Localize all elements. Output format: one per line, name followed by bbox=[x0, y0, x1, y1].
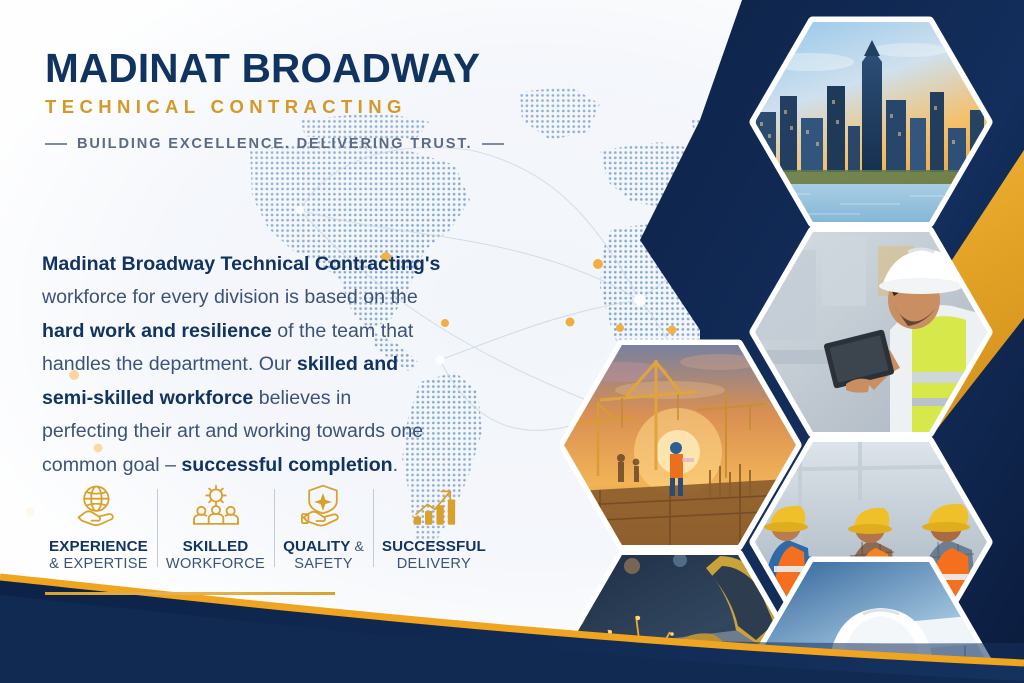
company-name-secondary: TECHNICAL CONTRACTING bbox=[45, 96, 525, 118]
paragraph-segment: Madinat Broadway Technical Contracting's bbox=[42, 253, 440, 275]
tagline-rule-right bbox=[482, 143, 504, 145]
feature-item-experience[interactable]: EXPERIENCE& EXPERTISE bbox=[40, 483, 157, 573]
feature-label-line2: WORKFORCE bbox=[166, 556, 265, 573]
tagline: BUILDING EXCELLENCE. DELIVERING TRUST. bbox=[45, 136, 504, 152]
feature-label-line1: EXPERIENCE bbox=[49, 538, 148, 556]
feature-label: SUCCESSFULDELIVERY bbox=[382, 538, 486, 573]
tagline-text: BUILDING EXCELLENCE. DELIVERING TRUST. bbox=[77, 136, 472, 152]
hex-blueprints-helmet bbox=[754, 557, 1003, 683]
hex-crane-construction-site bbox=[560, 338, 805, 553]
hex-city-skyline-sunset bbox=[750, 15, 995, 230]
hexagon-photo-collage bbox=[560, 0, 1024, 683]
feature-label: SKILLEDWORKFORCE bbox=[166, 538, 265, 573]
globe-in-hand-icon bbox=[49, 483, 148, 529]
feature-item-quality[interactable]: QUALITY &SAFETY bbox=[274, 483, 373, 573]
marketing-banner: MADINAT BROADWAY TECHNICAL CONTRACTING B… bbox=[0, 0, 1024, 683]
feature-label: EXPERIENCE& EXPERTISE bbox=[49, 538, 148, 573]
hex-engineer-with-tablet bbox=[750, 225, 995, 440]
body-paragraph: Madinat Broadway Technical Contracting's… bbox=[42, 248, 442, 483]
paragraph-segment: hard work and resilience bbox=[42, 320, 272, 342]
feature-label: QUALITY &SAFETY bbox=[283, 538, 364, 573]
company-name-primary: MADINAT BROADWAY bbox=[45, 48, 525, 89]
paragraph-segment: successful completion bbox=[181, 454, 392, 476]
hex-welding-sparks bbox=[560, 548, 805, 683]
feature-label-line1: QUALITY & bbox=[283, 538, 364, 556]
feature-item-successful[interactable]: SUCCESSFULDELIVERY bbox=[373, 483, 495, 573]
shield-in-hand-icon bbox=[283, 483, 364, 529]
feature-label-line2: SAFETY bbox=[283, 556, 364, 573]
feature-ampersand: & bbox=[350, 538, 363, 554]
paragraph-segment: workforce for every division is based on… bbox=[42, 286, 418, 308]
feature-label-line1: SKILLED bbox=[166, 538, 265, 556]
content-column: MADINAT BROADWAY TECHNICAL CONTRACTING B… bbox=[0, 0, 560, 683]
growth-chart-icon bbox=[382, 483, 486, 529]
logo-block: MADINAT BROADWAY TECHNICAL CONTRACTING bbox=[45, 48, 525, 118]
paragraph-segment: . bbox=[393, 454, 398, 476]
gold-divider-rule bbox=[45, 592, 335, 595]
feature-list: EXPERIENCE& EXPERTISESKILLEDWORKFORCEQUA… bbox=[40, 483, 540, 573]
feature-label-line1: SUCCESSFUL bbox=[382, 538, 486, 556]
feature-label-line2: DELIVERY bbox=[382, 556, 486, 573]
tagline-rule-left bbox=[45, 143, 67, 145]
feature-label-line2: & EXPERTISE bbox=[49, 556, 148, 573]
hex-workers-welding-rebar bbox=[750, 300, 995, 650]
feature-item-skilled[interactable]: SKILLEDWORKFORCE bbox=[157, 483, 274, 573]
gear-people-icon bbox=[166, 483, 265, 529]
